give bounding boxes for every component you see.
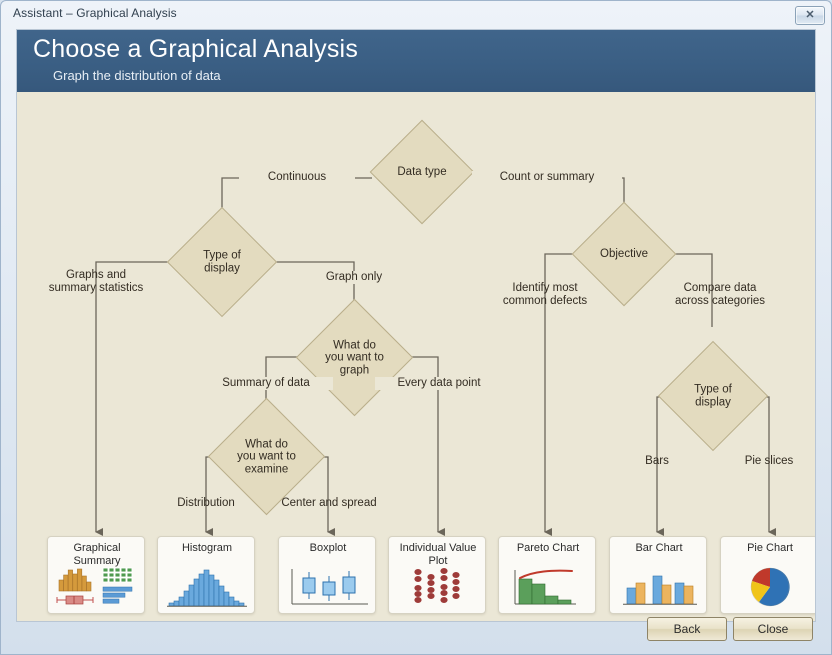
edge-label-bars: Bars (622, 455, 692, 468)
back-button[interactable]: Back (647, 617, 727, 641)
close-icon[interactable]: ✕ (795, 6, 825, 25)
edge-label-graph-only: Graph only (299, 271, 409, 284)
node-label: Type of display (183, 250, 261, 275)
card-bar-chart[interactable]: Bar Chart (609, 536, 707, 614)
page-title: Choose a Graphical Analysis (33, 35, 358, 64)
individual-value-plot-icon (394, 566, 482, 608)
node-objective[interactable]: Objective (587, 217, 661, 291)
node-label: Data type (385, 166, 459, 179)
more-link-individual-value-plot[interactable]: more... (388, 619, 486, 622)
card-title: Graphical Summary (50, 542, 144, 567)
card-pareto-chart[interactable]: Pareto Chart (498, 536, 596, 614)
card-graphical-summary[interactable]: Graphical Summary (47, 536, 145, 614)
edge-label-every-data-point: Every data point (375, 377, 503, 390)
title-bar: Assistant – Graphical Analysis ✕ (1, 1, 832, 27)
edge-label-count-or-summary: Count or summary (472, 171, 622, 184)
edge-label-center-and-spread: Center and spread (262, 497, 396, 510)
node-data-type[interactable]: Data type (385, 135, 459, 209)
card-title: Bar Chart (612, 542, 706, 555)
bar-chart-icon (615, 566, 703, 608)
graphical-summary-icon (53, 566, 141, 608)
card-individual-value-plot[interactable]: Individual Value Plot (388, 536, 486, 614)
card-title: Pie Chart (723, 542, 816, 555)
histogram-icon (163, 566, 251, 608)
node-what-to-examine[interactable]: What do you want to examine (225, 415, 308, 498)
page-header: Choose a Graphical Analysis Graph the di… (17, 30, 815, 92)
close-glyph: ✕ (796, 7, 824, 24)
edge-label-pie-slices: Pie slices (729, 455, 809, 468)
node-label: Type of display (674, 384, 752, 409)
assistant-window: Assistant – Graphical Analysis ✕ Choose … (0, 0, 832, 655)
more-link-boxplot[interactable]: more... (278, 619, 376, 622)
more-link-graphical-summary[interactable]: more... (47, 619, 145, 622)
card-boxplot[interactable]: Boxplot (278, 536, 376, 614)
boxplot-icon (284, 566, 372, 608)
edge-label-compare-data: Compare data across categories (651, 282, 789, 308)
more-link-pareto-chart[interactable]: more... (498, 619, 596, 622)
pareto-chart-icon (504, 566, 592, 608)
assistant-panel: Choose a Graphical Analysis Graph the di… (16, 29, 816, 622)
edge-label-graphs-and-summary: Graphs and summary statistics (28, 269, 164, 295)
edge-label-distribution: Distribution (151, 497, 261, 510)
node-label: Objective (587, 248, 661, 261)
page-subtitle: Graph the distribution of data (53, 68, 221, 83)
card-title: Histogram (160, 542, 254, 555)
edge-label-summary-of-data: Summary of data (199, 377, 333, 390)
node-type-of-display[interactable]: Type of display (183, 223, 261, 301)
node-label: What do you want to graph (313, 339, 396, 377)
card-histogram[interactable]: Histogram (157, 536, 255, 614)
card-pie-chart[interactable]: Pie Chart (720, 536, 816, 614)
close-button[interactable]: Close (733, 617, 813, 641)
pie-chart-icon (726, 566, 814, 608)
node-type-of-display-2[interactable]: Type of display (674, 357, 752, 435)
card-title: Individual Value Plot (391, 542, 485, 567)
edge-label-continuous: Continuous (239, 171, 355, 184)
more-link-histogram[interactable]: more... (157, 619, 255, 622)
decision-tree-canvas: Data type Type of display Objective What… (17, 92, 815, 622)
card-title: Boxplot (281, 542, 375, 555)
node-label: What do you want to examine (225, 438, 308, 476)
card-title: Pareto Chart (501, 542, 595, 555)
edge-label-identify-defects: Identify most common defects (477, 282, 613, 308)
window-title: Assistant – Graphical Analysis (13, 6, 177, 20)
